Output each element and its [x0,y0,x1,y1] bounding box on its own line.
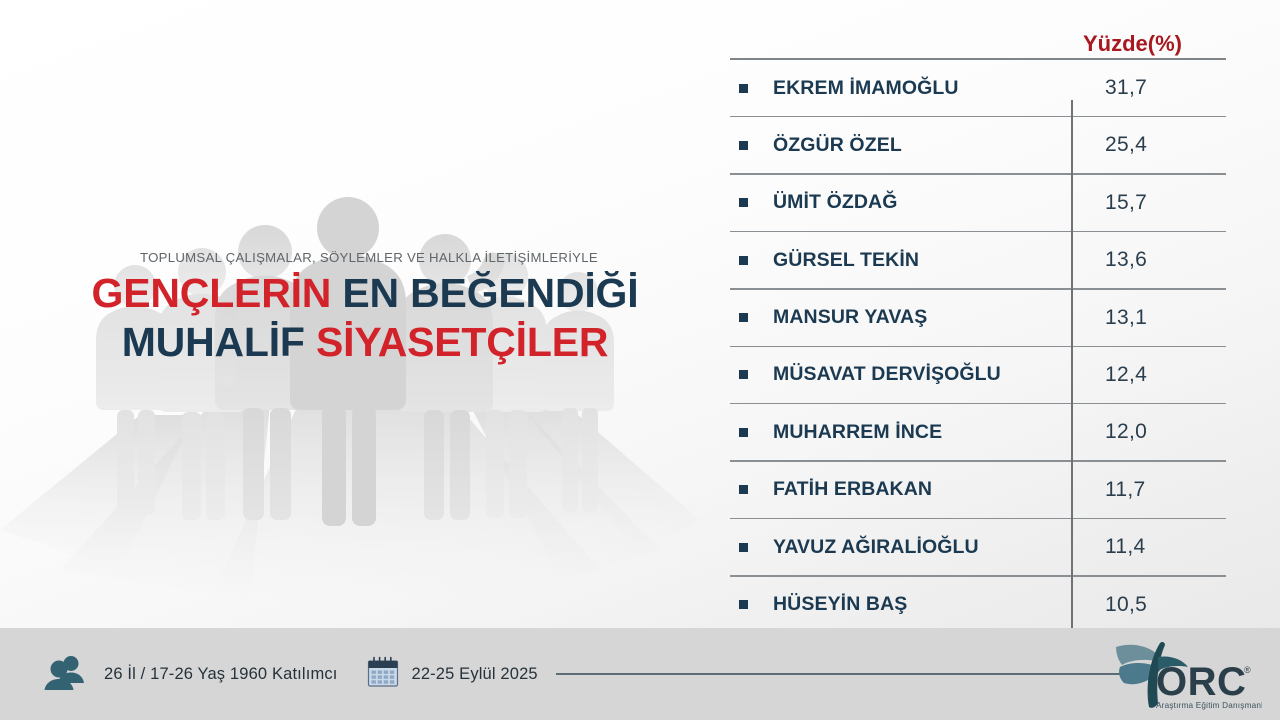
table-row[interactable]: YAVUZ AĞIRALİOĞLU 11,4 [730,519,1226,575]
square-bullet-icon [739,370,748,379]
square-bullet-icon [739,428,748,437]
table-cell-value: 25,4 [1071,133,1226,157]
calendar-icon [366,655,400,694]
table-cell-name: MÜSAVAT DERVİŞOĞLU [730,363,1071,386]
table-row[interactable]: HÜSEYİN BAŞ 10,5 [730,577,1226,633]
table-row[interactable]: MÜSAVAT DERVİŞOĞLU 12,4 [730,347,1226,403]
candidate-name: MANSUR YAVAŞ [773,306,927,329]
table-cell-value: 13,6 [1071,248,1226,272]
square-bullet-icon [739,600,748,609]
table-cell-value: 12,0 [1071,420,1226,444]
title-words-en-begendigi: EN BEĞENDİĞİ [331,270,638,316]
table-cell-name: YAVUZ AĞIRALİOĞLU [730,536,1071,559]
logo-registered-mark: ® [1244,665,1251,675]
results-table: Yüzde(%) EKREM İMAMOĞLU 31,7 ÖZGÜR ÖZEL … [730,18,1226,633]
table-row[interactable]: FATİH ERBAKAN 11,7 [730,462,1226,518]
candidate-name: FATİH ERBAKAN [773,478,932,501]
square-bullet-icon [739,84,748,93]
candidate-name: GÜRSEL TEKİN [773,249,919,272]
candidate-name: YAVUZ AĞIRALİOĞLU [773,536,979,559]
square-bullet-icon [739,485,748,494]
logo-wordmark: ORC [1156,660,1246,704]
candidate-name: MUHARREM İNCE [773,421,942,444]
table-cell-name: ÖZGÜR ÖZEL [730,134,1071,157]
table-cell-value: 12,4 [1071,363,1226,387]
logo-tagline: Araştırma Eğitim Danışmanlık [1156,701,1262,710]
table-cell-name: MUHARREM İNCE [730,421,1071,444]
footer-dates-group: 22-25 Eylül 2025 [366,655,538,694]
table-cell-name: MANSUR YAVAŞ [730,306,1071,329]
table-cell-value: 15,7 [1071,191,1226,215]
title-line-2: MUHALİF SİYASETÇİLER [10,318,720,367]
slide-root: TOPLUMSAL ÇALIŞMALAR, SÖYLEMLER VE HALKL… [0,0,1280,720]
square-bullet-icon [739,313,748,322]
footer-dates-text: 22-25 Eylül 2025 [412,665,538,684]
footer-sample-text: 26 İl / 17-26 Yaş 1960 Katılımcı [104,665,338,684]
table-row[interactable]: ÖZGÜR ÖZEL 25,4 [730,117,1226,173]
hero-block: TOPLUMSAL ÇALIŞMALAR, SÖYLEMLER VE HALKL… [0,250,720,367]
footer-bar: 26 İl / 17-26 Yaş 1960 Katılımcı [0,628,1280,720]
table-body: EKREM İMAMOĞLU 31,7 ÖZGÜR ÖZEL 25,4 ÜMİT… [730,60,1226,633]
square-bullet-icon [739,543,748,552]
table-cell-name: ÜMİT ÖZDAĞ [730,191,1071,214]
table-row[interactable]: MANSUR YAVAŞ 13,1 [730,290,1226,346]
table-cell-name: EKREM İMAMOĞLU [730,77,1071,100]
table-cell-name: FATİH ERBAKAN [730,478,1071,501]
table-cell-value: 10,5 [1071,593,1226,617]
candidate-name: EKREM İMAMOĞLU [773,77,959,100]
page-title: GENÇLERİN EN BEĞENDİĞİ MUHALİF SİYASETÇİ… [0,269,720,367]
square-bullet-icon [739,141,748,150]
hero-subtitle: TOPLUMSAL ÇALIŞMALAR, SÖYLEMLER VE HALKL… [0,250,720,265]
candidate-name: ÖZGÜR ÖZEL [773,134,902,157]
footer-sample-group: 26 İl / 17-26 Yaş 1960 Katılımcı [44,654,338,695]
table-cell-value: 11,4 [1071,535,1226,559]
people-icon [44,654,88,695]
square-bullet-icon [739,198,748,207]
table-row[interactable]: MUHARREM İNCE 12,0 [730,404,1226,460]
table-row[interactable]: GÜRSEL TEKİN 13,6 [730,232,1226,288]
table-header-percent: Yüzde(%) [1071,33,1226,58]
table-cell-value: 31,7 [1071,76,1226,100]
title-line-1: GENÇLERİN EN BEĞENDİĞİ [10,269,720,318]
table-cell-name: HÜSEYİN BAŞ [730,593,1071,616]
title-word-genclerin: GENÇLERİN [92,270,332,316]
title-word-muhalif: MUHALİF [122,319,316,365]
candidate-name: ÜMİT ÖZDAĞ [773,191,897,214]
table-row[interactable]: ÜMİT ÖZDAĞ 15,7 [730,175,1226,231]
orc-logo[interactable]: ORC ® Araştırma Eğitim Danışmanlık [1112,633,1262,715]
footer-divider-line [556,673,1126,674]
table-row[interactable]: EKREM İMAMOĞLU 31,7 [730,60,1226,116]
table-cell-name: GÜRSEL TEKİN [730,249,1071,272]
title-word-siyasetciler: SİYASETÇİLER [316,319,608,365]
table-cell-value: 13,1 [1071,306,1226,330]
table-header-row: Yüzde(%) [730,18,1226,58]
square-bullet-icon [739,256,748,265]
candidate-name: HÜSEYİN BAŞ [773,593,907,616]
candidate-name: MÜSAVAT DERVİŞOĞLU [773,363,1001,386]
table-cell-value: 11,7 [1071,478,1226,502]
